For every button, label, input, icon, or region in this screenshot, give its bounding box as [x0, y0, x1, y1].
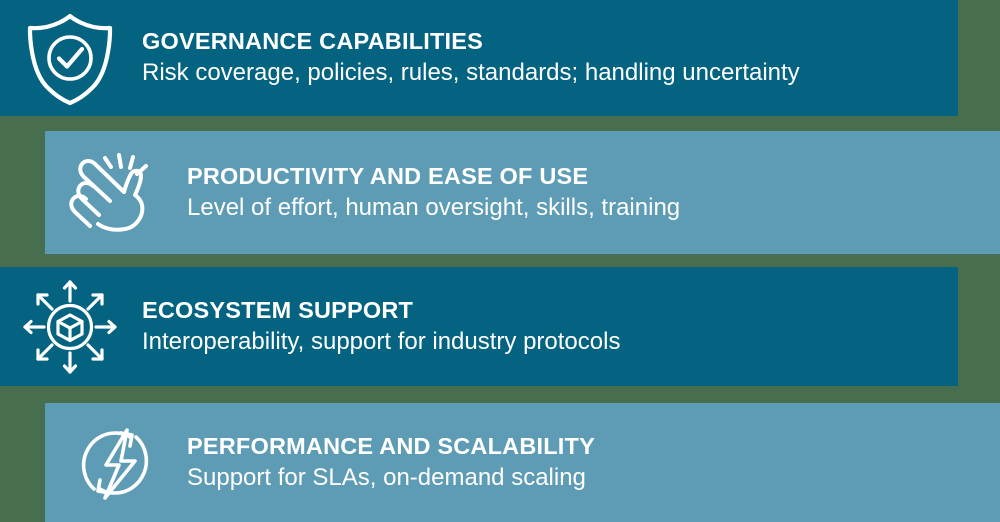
band-text-block: ECOSYSTEM SUPPORT Interoperability, supp…: [140, 297, 958, 357]
band-performance-and-scalability: PERFORMANCE AND SCALABILITY Support for …: [45, 403, 1000, 522]
band-subtitle: Level of effort, human oversight, skills…: [187, 194, 1000, 223]
lightning-bolt-refresh-icon: [45, 413, 185, 513]
snapping-fingers-icon: [45, 143, 185, 243]
capabilities-infographic: GOVERNANCE CAPABILITIES Risk coverage, p…: [0, 0, 1000, 522]
band-text-block: GOVERNANCE CAPABILITIES Risk coverage, p…: [140, 28, 958, 88]
band-title: PRODUCTIVITY AND EASE OF USE: [187, 163, 1000, 190]
band-subtitle: Interoperability, support for industry p…: [142, 328, 958, 357]
band-subtitle: Support for SLAs, on-demand scaling: [187, 464, 1000, 493]
band-text-block: PERFORMANCE AND SCALABILITY Support for …: [185, 433, 1000, 493]
band-subtitle: Risk coverage, policies, rules, standard…: [142, 59, 958, 88]
band-text-block: PRODUCTIVITY AND EASE OF USE Level of ef…: [185, 163, 1000, 223]
band-title: GOVERNANCE CAPABILITIES: [142, 28, 958, 55]
band-title: PERFORMANCE AND SCALABILITY: [187, 433, 1000, 460]
shield-check-icon: [0, 8, 140, 108]
cube-network-arrows-icon: [0, 277, 140, 377]
band-ecosystem-support: ECOSYSTEM SUPPORT Interoperability, supp…: [0, 267, 958, 386]
band-productivity-and-ease-of-use: PRODUCTIVITY AND EASE OF USE Level of ef…: [45, 131, 1000, 254]
band-governance-capabilities: GOVERNANCE CAPABILITIES Risk coverage, p…: [0, 0, 958, 116]
band-title: ECOSYSTEM SUPPORT: [142, 297, 958, 324]
